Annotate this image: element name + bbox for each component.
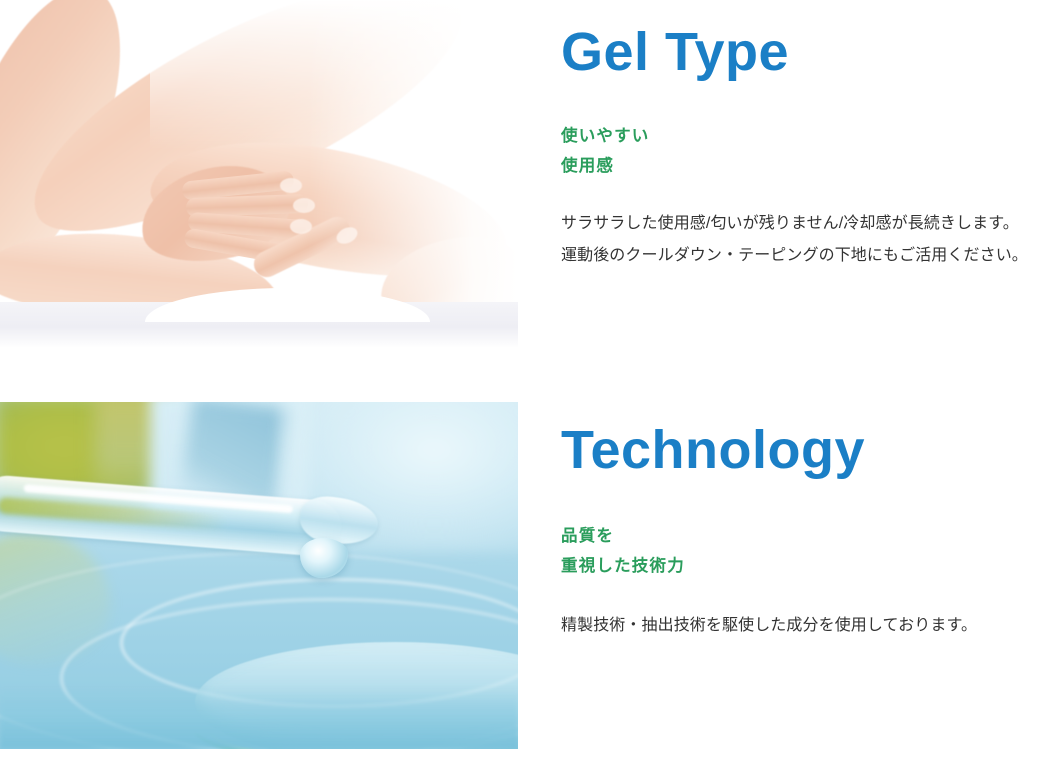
body-paragraph-1: 精製技術・抽出技術を駆使した成分を使用しております。 bbox=[561, 610, 1043, 642]
feature-section-gel-type: Gel Type 使いやすい 使用感 サラサラした使用感/匂いが残りません/冷却… bbox=[0, 0, 1050, 348]
subhead-line-2: 重視した技術力 bbox=[561, 551, 1043, 582]
subhead-line-1: 使いやすい bbox=[561, 121, 1043, 152]
water-surface-foreground bbox=[0, 687, 518, 749]
legs-massage-illustration bbox=[0, 0, 518, 348]
body-paragraph-1: サラサラした使用感/匂いが残りません/冷却感が長続きします。 bbox=[561, 208, 1043, 240]
section-heading-technology: Technology bbox=[561, 402, 1043, 479]
section-heading-gel-type: Gel Type bbox=[561, 0, 1043, 81]
water-droplet-illustration bbox=[0, 402, 518, 749]
section-body-technology: 精製技術・抽出技術を駆使した成分を使用しております。 bbox=[561, 610, 1043, 642]
subhead-line-1: 品質を bbox=[561, 521, 1043, 552]
section-body-gel-type: サラサラした使用感/匂いが残りません/冷却感が長続きします。 運動後のクールダウ… bbox=[561, 208, 1043, 272]
feature-section-technology: Technology 品質を 重視した技術力 精製技術・抽出技術を駆使した成分を… bbox=[0, 402, 1050, 749]
water-droplet-photo bbox=[0, 402, 518, 749]
gel-type-copy-block: Gel Type 使いやすい 使用感 サラサラした使用感/匂いが残りません/冷却… bbox=[561, 0, 1043, 348]
section-subhead-gel-type: 使いやすい 使用感 bbox=[561, 121, 1043, 182]
subhead-line-2: 使用感 bbox=[561, 151, 1043, 182]
fingernail-1 bbox=[280, 178, 302, 193]
legs-massage-photo bbox=[0, 0, 518, 348]
photo-ground-shadow bbox=[0, 302, 518, 348]
section-subhead-technology: 品質を 重視した技術力 bbox=[561, 521, 1043, 582]
technology-copy-block: Technology 品質を 重視した技術力 精製技術・抽出技術を駆使した成分を… bbox=[561, 402, 1043, 749]
product-features-page: Gel Type 使いやすい 使用感 サラサラした使用感/匂いが残りません/冷却… bbox=[0, 0, 1050, 769]
body-paragraph-2: 運動後のクールダウン・テーピングの下地にもご活用ください。 bbox=[561, 240, 1043, 272]
